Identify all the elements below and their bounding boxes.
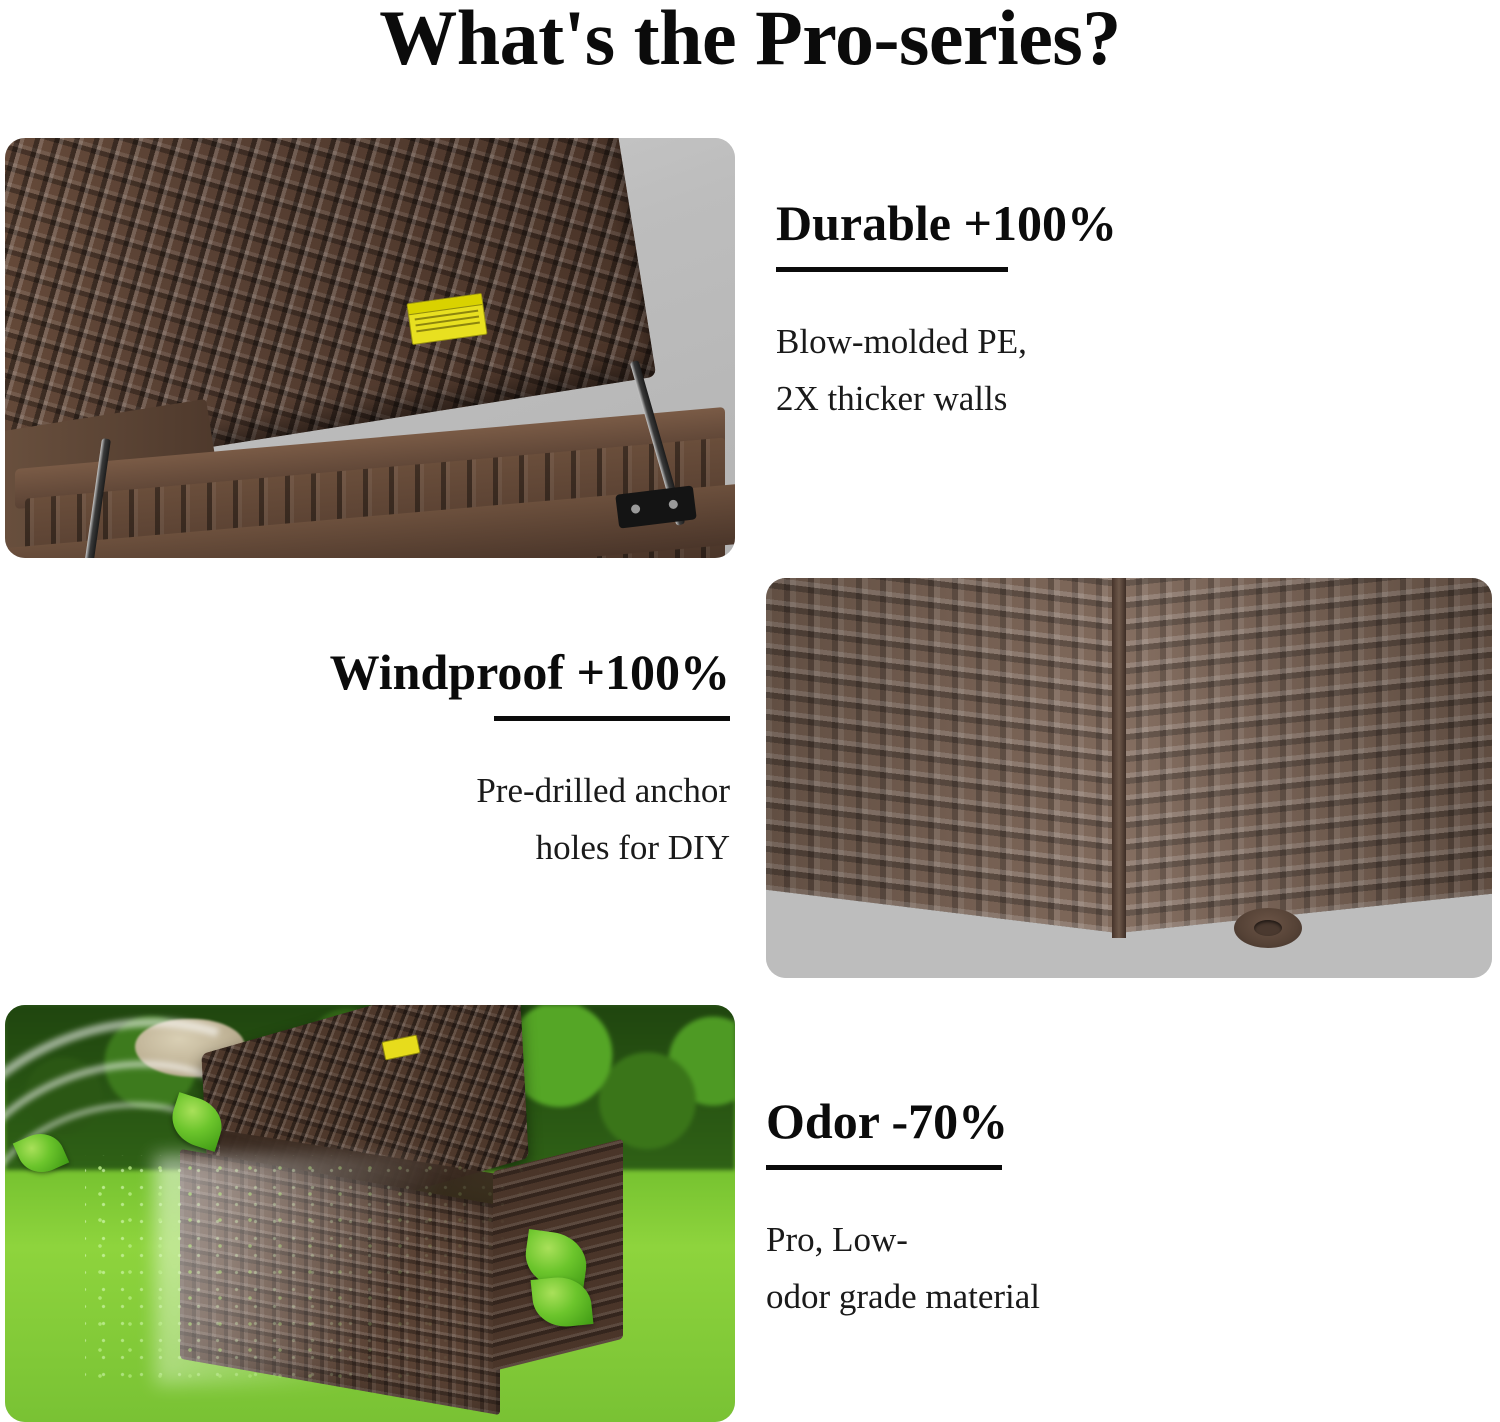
feature-block-durable: Durable +100% Blow-molded PE, 2X thicker… (776, 196, 1296, 427)
feature-heading-durable: Durable +100% (776, 196, 1296, 251)
feature-block-odor: Odor -70% Pro, Low- odor grade material (766, 1094, 1286, 1325)
wicker-panel-left (766, 578, 1118, 933)
wicker-panel-right (1118, 578, 1492, 933)
photo-open-deck-box-scene (5, 138, 735, 558)
photo-wicker-corner (766, 578, 1492, 978)
feature-body-odor: Pro, Low- odor grade material (766, 1212, 1286, 1325)
feature-underline-rule (776, 267, 1008, 272)
page-title: What's the Pro-series? (0, 0, 1500, 81)
feature-underline-rule (766, 1165, 1002, 1170)
feature-body-windproof: Pre-drilled anchor holes for DIY (210, 763, 730, 876)
photo-deck-box-on-lawn-scene (5, 1005, 735, 1422)
odor-particles (85, 1155, 545, 1385)
photo-deck-box-on-lawn (5, 1005, 735, 1422)
feature-body-line: 2X thicker walls (776, 371, 1296, 428)
feature-heading-windproof: Windproof +100% (210, 645, 730, 700)
anchor-hole-foot (1234, 908, 1302, 948)
feature-body-line: odor grade material (766, 1269, 1286, 1326)
feature-body-line: holes for DIY (210, 820, 730, 877)
feature-body-line: Pro, Low- (766, 1212, 1286, 1269)
feature-body-line: Pre-drilled anchor (210, 763, 730, 820)
photo-open-deck-box (5, 138, 735, 558)
corner-seam (1112, 578, 1126, 938)
feature-underline-rule (494, 716, 730, 721)
feature-heading-odor: Odor -70% (766, 1094, 1286, 1149)
feature-body-durable: Blow-molded PE, 2X thicker walls (776, 314, 1296, 427)
feature-body-line: Blow-molded PE, (776, 314, 1296, 371)
feature-block-windproof: Windproof +100% Pre-drilled anchor holes… (210, 645, 730, 876)
photo-wicker-corner-scene (766, 578, 1492, 978)
